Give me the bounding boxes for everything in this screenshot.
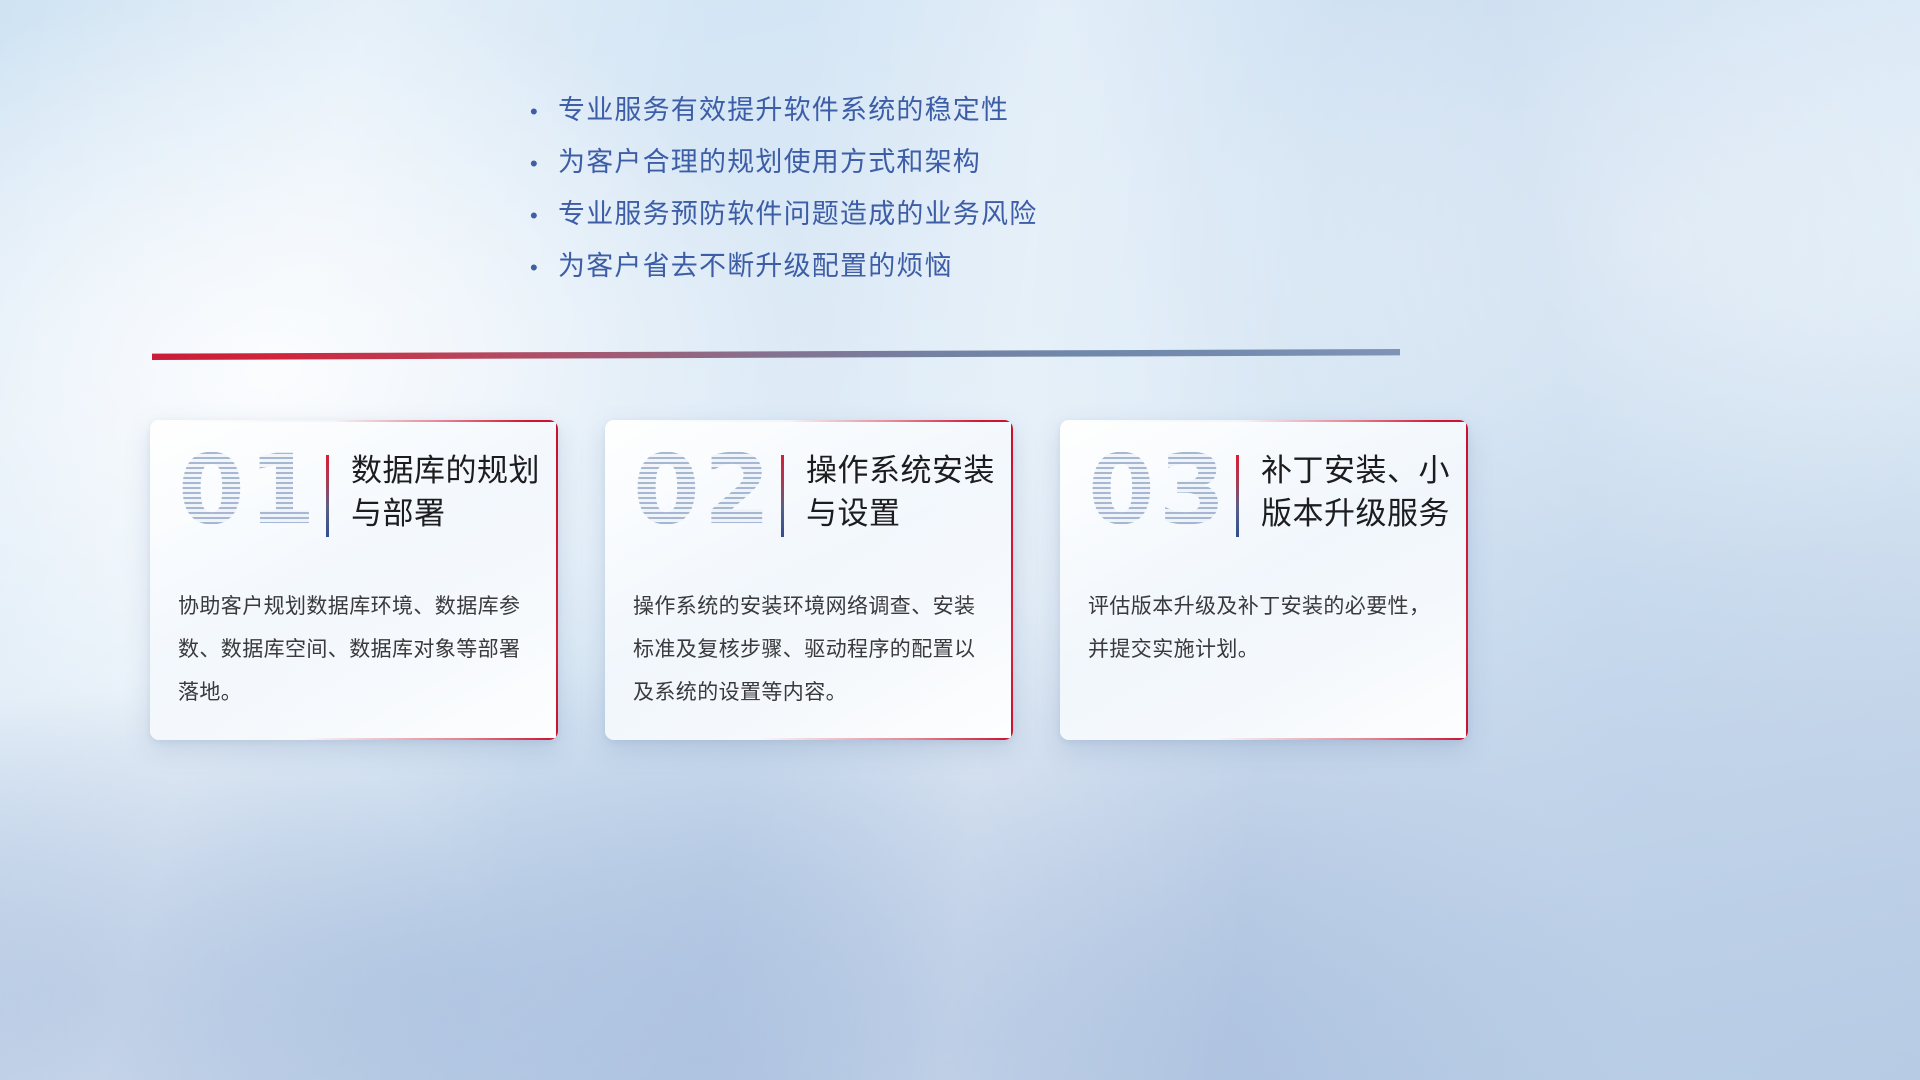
service-card-group: 01 01 数据库的规划 与部署 协助客户规划数据库环境、数据库参数、数据库空间…: [150, 420, 1770, 740]
title-rule-divider: [1236, 455, 1239, 537]
list-item: • 专业服务有效提升软件系统的稳定性: [530, 88, 1250, 140]
card-number-watermark: 03: [1088, 442, 1230, 538]
bullet-dot-icon: •: [530, 101, 558, 123]
service-card[interactable]: 02 02 操作系统安装 与设置 操作系统的安装环境网络调查、安装标准及复核步骤…: [605, 420, 1013, 740]
card-title-wrap: 操作系统安装 与设置: [781, 450, 995, 537]
bullet-dot-icon: •: [530, 257, 558, 279]
bullet-dot-icon: •: [530, 153, 558, 175]
card-body-text: 协助客户规划数据库环境、数据库参数、数据库空间、数据库对象等部署落地。: [178, 585, 536, 714]
title-rule-divider: [781, 455, 784, 537]
card-number-watermark: 02: [633, 442, 775, 538]
bullet-text: 为客户省去不断升级配置的烦恼: [558, 244, 953, 283]
service-card[interactable]: 03 03 补丁安装、小 版本升级服务 评估版本升级及补丁安装的必要性，并提交实…: [1060, 420, 1468, 740]
bullet-text: 专业服务预防软件问题造成的业务风险: [558, 192, 1037, 231]
card-body-text: 评估版本升级及补丁安装的必要性，并提交实施计划。: [1088, 585, 1446, 671]
list-item: • 为客户省去不断升级配置的烦恼: [530, 244, 1250, 296]
bullet-text: 专业服务有效提升软件系统的稳定性: [558, 88, 1009, 127]
list-item: • 专业服务预防软件问题造成的业务风险: [530, 192, 1250, 244]
list-item: • 为客户合理的规划使用方式和架构: [530, 140, 1250, 192]
benefits-bullet-list: • 专业服务有效提升软件系统的稳定性 • 为客户合理的规划使用方式和架构 • 专…: [530, 88, 1250, 296]
card-title: 补丁安装、小 版本升级服务: [1261, 450, 1450, 536]
title-rule-divider: [326, 455, 329, 537]
service-card[interactable]: 01 01 数据库的规划 与部署 协助客户规划数据库环境、数据库参数、数据库空间…: [150, 420, 558, 740]
bullet-dot-icon: •: [530, 205, 558, 227]
card-bottom-edge: [305, 738, 558, 740]
card-header: 03 03 补丁安装、小 版本升级服务: [1060, 420, 1468, 568]
card-header: 01 01 数据库的规划 与部署: [150, 420, 558, 568]
card-title: 操作系统安装 与设置: [806, 450, 995, 536]
bullet-text: 为客户合理的规划使用方式和架构: [558, 140, 981, 179]
card-title: 数据库的规划 与部署: [351, 450, 540, 536]
section-divider: [152, 349, 1400, 360]
card-header: 02 02 操作系统安装 与设置: [605, 420, 1013, 568]
card-bottom-edge: [1215, 738, 1468, 740]
card-title-wrap: 补丁安装、小 版本升级服务: [1236, 450, 1450, 537]
card-body-text: 操作系统的安装环境网络调查、安装标准及复核步骤、驱动程序的配置以及系统的设置等内…: [633, 585, 991, 714]
divider-bar: [152, 349, 1400, 360]
slide-canvas: • 专业服务有效提升软件系统的稳定性 • 为客户合理的规划使用方式和架构 • 专…: [0, 0, 1920, 1080]
card-number-watermark: 01: [178, 442, 320, 538]
card-title-wrap: 数据库的规划 与部署: [326, 450, 540, 537]
card-bottom-edge: [760, 738, 1013, 740]
